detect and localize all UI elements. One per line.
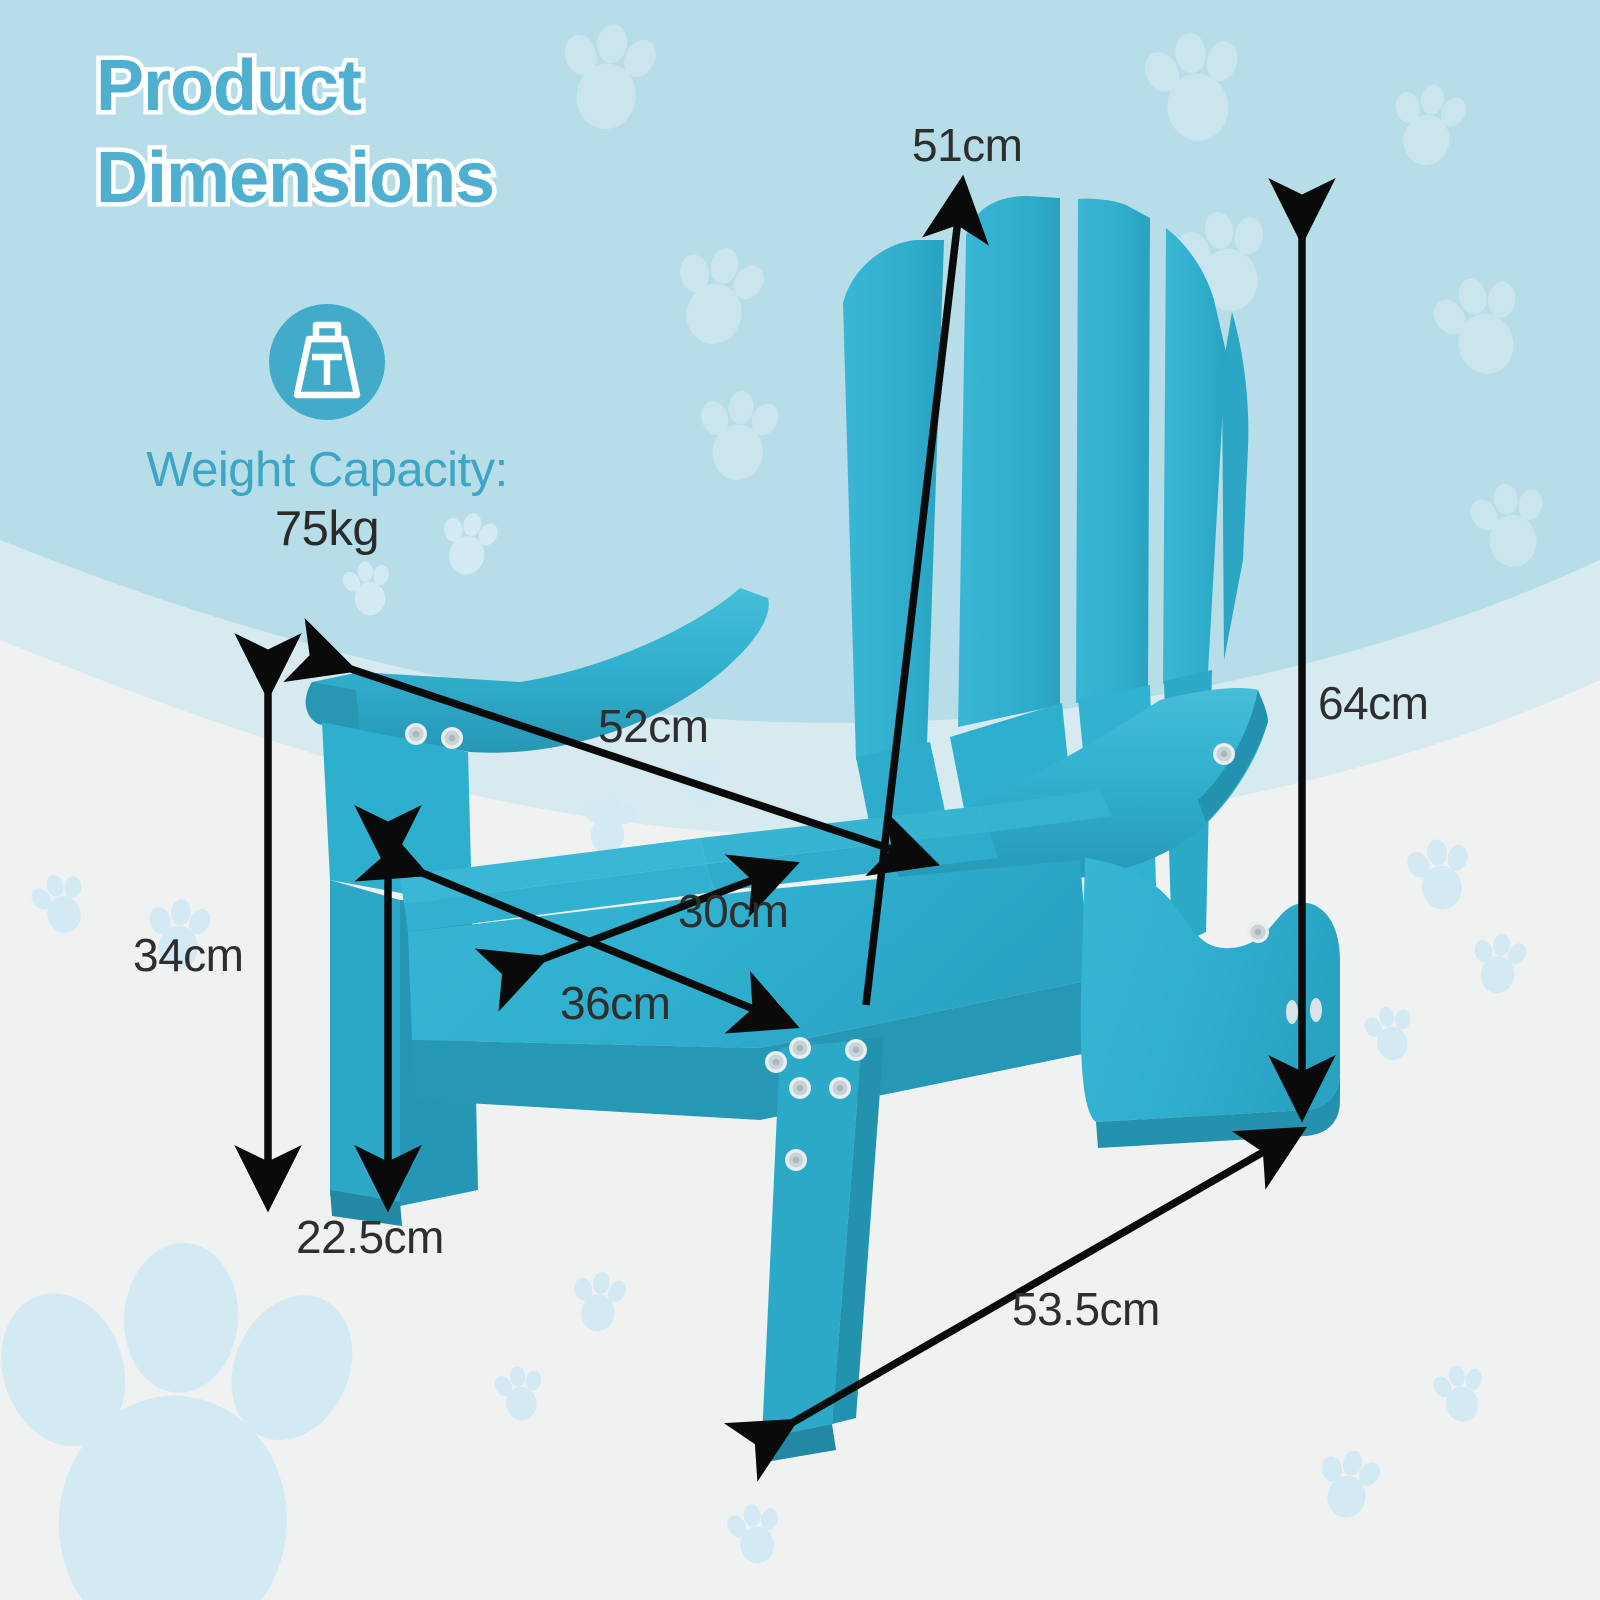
weight-capacity-block: Weight Capacity: 75kg [92, 300, 562, 557]
title-line-1: Product [96, 40, 494, 132]
title-line-2: Dimensions [96, 132, 494, 224]
dimension-label-22-5cm: 22.5cm [296, 1210, 444, 1264]
chair-back-leg [330, 880, 402, 1226]
dimension-label-51cm: 51cm [912, 118, 1022, 172]
chair-side-rail [1081, 858, 1340, 1148]
weight-icon-wrap [265, 300, 389, 424]
dimension-label-53-5cm: 53.5cm [1012, 1282, 1160, 1336]
weight-capacity-label: Weight Capacity: [92, 444, 562, 497]
weight-capacity-value: 75kg [92, 501, 562, 557]
infographic-canvas: Product Dimensions Weight Capacity: 75kg… [0, 0, 1600, 1600]
dimension-label-30cm: 30cm [678, 884, 788, 938]
page-title: Product Dimensions [96, 40, 494, 224]
title-text-dimensions: Dimensions [96, 138, 494, 218]
chair-front-leg [759, 999, 884, 1462]
dimension-label-64cm: 64cm [1318, 676, 1428, 730]
dimension-label-36cm: 36cm [560, 976, 670, 1030]
weight-kettlebell-icon [265, 300, 389, 424]
title-text-product: Product [96, 46, 361, 126]
dimension-label-34cm: 34cm [133, 928, 243, 982]
dimension-label-52cm: 52cm [598, 699, 708, 753]
adirondack-chair-illustration [0, 0, 1600, 1600]
